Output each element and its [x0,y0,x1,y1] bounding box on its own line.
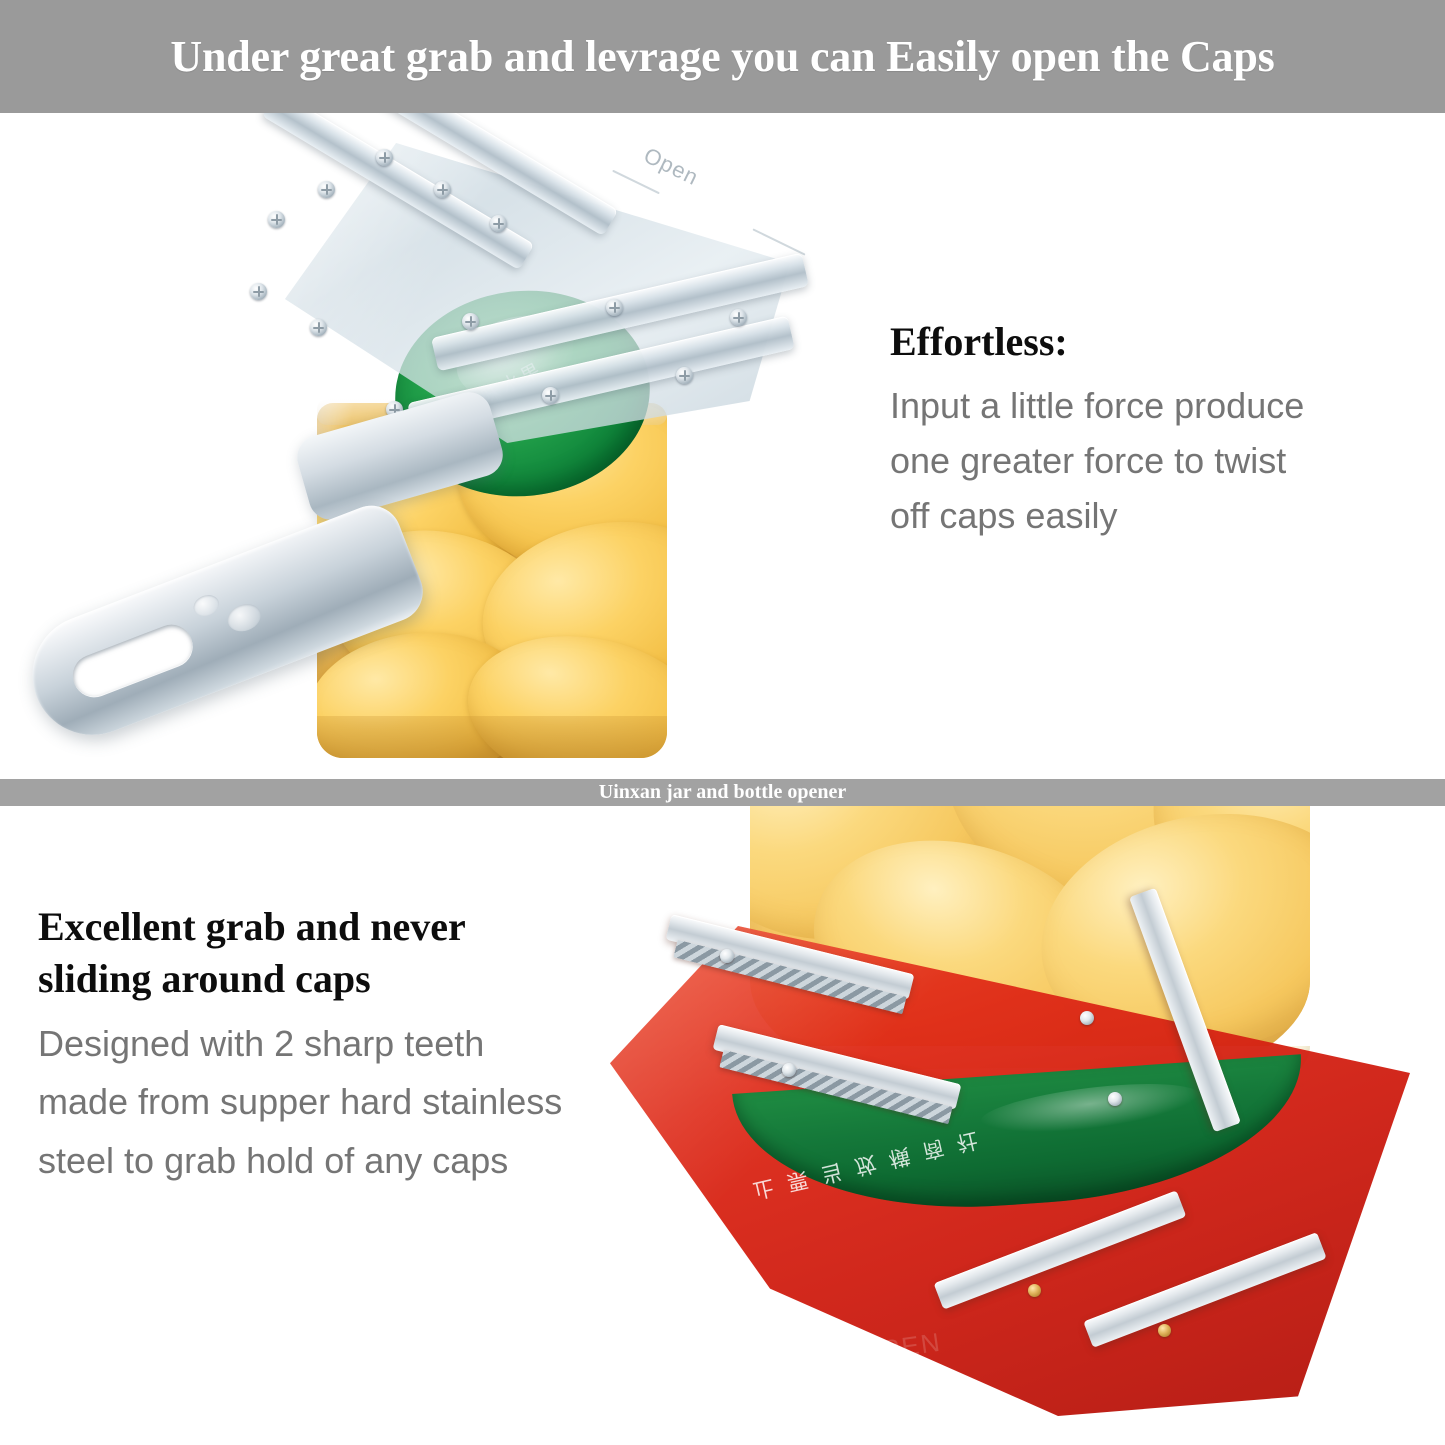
product-photo-red-opener: OPEN 止 票 当 放 横 商 社 [560,806,1445,1445]
screw-icon [782,1063,796,1077]
screw-icon [250,283,267,300]
header-banner: Under great grab and levrage you can Eas… [0,0,1445,113]
feature-heading: Excellent grab and never sliding around … [38,901,678,1005]
screw-icon [310,319,327,336]
feature-text-effortless: Effortless: Input a little force produce… [890,318,1420,543]
handle-dimple [224,599,265,635]
brand-label: Uinxan jar and bottle opener [599,781,846,804]
feature-body: Designed with 2 sharp teeth made from su… [38,1015,678,1190]
emboss-line [752,228,805,255]
feature-body-line: one greater force to twist [890,434,1420,489]
product-feature-image: Under great grab and levrage you can Eas… [0,0,1445,1445]
handle-dimple [191,591,222,619]
top-feature-panel: 峰味水果 Open [0,113,1445,779]
product-photo-silver-opener: 峰味水果 Open [0,113,880,779]
feature-body: Input a little force produce one greater… [890,379,1420,543]
screw-icon [462,313,479,330]
screw-icon [606,299,623,316]
screw-icon [542,387,559,404]
header-title: Under great grab and levrage you can Eas… [170,31,1274,82]
screw-icon [1028,1284,1041,1297]
screw-icon [376,149,393,166]
screw-icon [1108,1092,1122,1106]
screw-icon [676,367,693,384]
screw-icon [720,949,734,963]
feature-body-line: Input a little force produce [890,379,1420,434]
screw-icon [318,181,335,198]
feature-body-line: off caps easily [890,489,1420,544]
feature-heading-line: Excellent grab and never [38,901,678,953]
screw-icon [1080,1011,1094,1025]
screw-icon [268,211,285,228]
screw-icon [1158,1324,1171,1337]
bottom-feature-panel: OPEN 止 票 当 放 横 商 社 Excellent grab [0,806,1445,1445]
screw-icon [490,215,507,232]
feature-heading: Effortless: [890,318,1420,365]
screw-icon [730,309,747,326]
red-body-emboss: OPEN [858,1314,1031,1373]
feature-heading-line: sliding around caps [38,953,678,1005]
brand-divider-band: Uinxan jar and bottle opener [0,779,1445,806]
screw-icon [434,181,451,198]
feature-body-line: Designed with 2 sharp teeth [38,1015,678,1073]
feature-text-excellent-grab: Excellent grab and never sliding around … [38,901,678,1190]
feature-body-line: made from supper hard stainless [38,1073,678,1131]
feature-body-line: steel to grab hold of any caps [38,1132,678,1190]
handle-hanging-hole [67,619,199,703]
